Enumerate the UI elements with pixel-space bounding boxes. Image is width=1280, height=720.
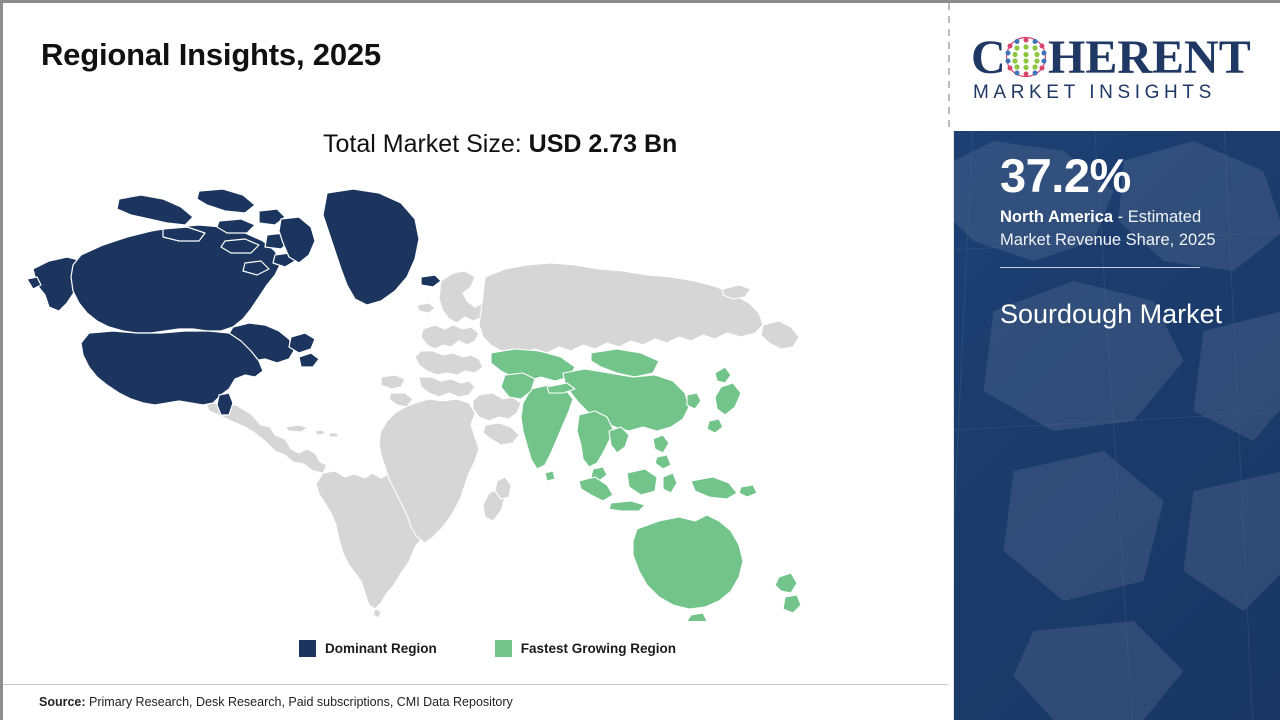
map-region-dominant	[27, 189, 441, 415]
regional-highlight-panel: 37.2% North America - Estimated Market R…	[953, 131, 1280, 720]
source-divider	[3, 684, 948, 685]
world-map-svg	[23, 181, 923, 621]
logo-wordmark: HERENT	[1048, 31, 1251, 84]
total-market-size-label: Total Market Size:	[323, 130, 529, 158]
square-swatch-icon	[299, 640, 316, 657]
legend-item-fastest-growing: Fastest Growing Region	[495, 640, 676, 657]
total-market-size: Total Market Size: USD 2.73 Bn	[323, 130, 677, 159]
regional-insights-infographic: Regional Insights, 2025 Total Market Siz…	[0, 0, 1280, 720]
legend-item-label: Fastest Growing Region	[521, 641, 676, 656]
brand-logo: C	[955, 3, 1280, 131]
map-content-pane: Regional Insights, 2025 Total Market Siz…	[3, 3, 948, 720]
map-legend: Dominant Region Fastest Growing Region	[299, 640, 676, 657]
legend-item-dominant: Dominant Region	[299, 640, 437, 657]
map-region-fastest-growing	[491, 349, 801, 621]
square-swatch-icon	[495, 640, 512, 657]
source-note: Source: Primary Research, Desk Research,…	[39, 695, 513, 709]
market-name: Sourdough Market	[1000, 296, 1252, 333]
vertical-dashed-divider	[948, 3, 950, 131]
total-market-size-value: USD 2.73 Bn	[529, 130, 678, 158]
logo-letter-c: C	[971, 31, 1006, 84]
world-map	[23, 181, 923, 621]
panel-content: 37.2% North America - Estimated Market R…	[1000, 151, 1252, 333]
source-label: Source:	[39, 695, 86, 709]
panel-divider-rule	[1000, 267, 1200, 268]
coherent-market-insights-logo: C	[969, 29, 1269, 105]
legend-item-label: Dominant Region	[325, 641, 437, 656]
region-name: North America	[1000, 208, 1113, 226]
market-share-caption: North America - Estimated Market Revenue…	[1000, 206, 1252, 251]
market-share-value: 37.2%	[1000, 151, 1252, 200]
page-title: Regional Insights, 2025	[41, 37, 381, 73]
source-text: Primary Research, Desk Research, Paid su…	[86, 695, 513, 709]
dotted-globe-icon	[1006, 38, 1047, 77]
logo-tagline: MARKET INSIGHTS	[973, 82, 1216, 103]
